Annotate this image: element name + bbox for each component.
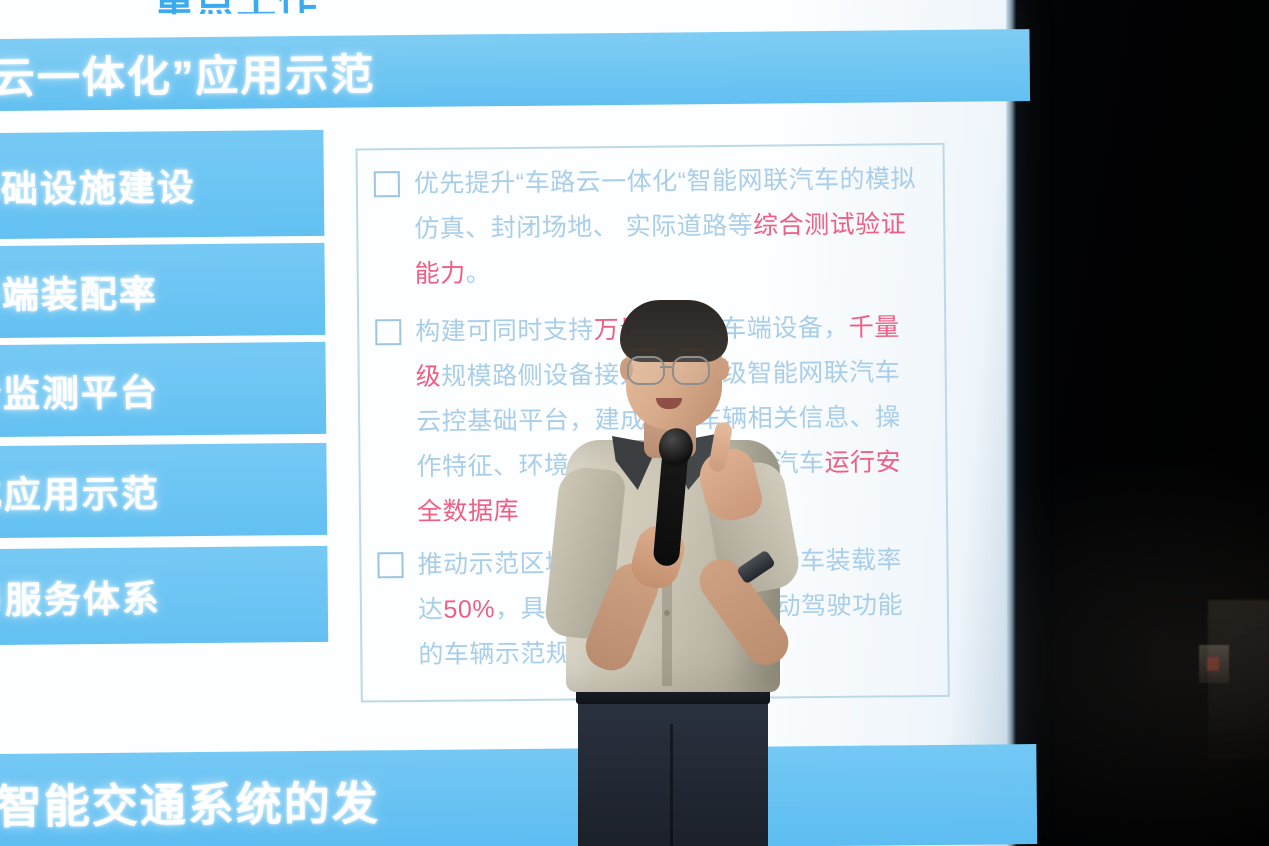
speaker-figure xyxy=(516,300,836,846)
speaker-hair xyxy=(620,300,728,362)
checkbox-empty-icon xyxy=(377,552,403,578)
wall-plate-marking xyxy=(1207,657,1219,671)
bullet-seg-highlight: 50% xyxy=(443,595,495,623)
speaker-glasses-left-lens xyxy=(627,356,665,385)
bullet-item-0: 优先提升“车路云一体化“智能网联汽车的模拟仿真、封闭场地、 实际道路等综合测试验… xyxy=(374,157,923,297)
sidebar-item-1[interactable]: 终端装配率 xyxy=(0,243,325,339)
speaker-trousers xyxy=(578,698,768,846)
sidebar-item-4[interactable]: 与服务体系 xyxy=(0,546,328,646)
wall-plate xyxy=(1199,645,1229,683)
speaker-eyebrow-left xyxy=(632,348,658,352)
speaker-ear-right xyxy=(716,358,729,380)
slide-title: 路云一体化”应用示范 xyxy=(0,40,376,106)
checkbox-empty-icon xyxy=(375,319,401,345)
speaker-shirt-button xyxy=(664,610,670,616)
sidebar-item-2[interactable]: 全监测平台 xyxy=(0,342,326,438)
speaker-glasses-right-lens xyxy=(672,356,710,385)
bullet-seg: 。 xyxy=(466,259,492,287)
slide-bottom-banner-text: 代智能交通系统的发 xyxy=(0,767,380,837)
slide-top-heading: 重点工作 xyxy=(154,0,574,14)
sidebar-item-label: 终端装配率 xyxy=(0,263,158,319)
slide-title-bar: 路云一体化”应用示范 xyxy=(0,29,1030,111)
checkbox-empty-icon xyxy=(374,171,400,197)
presentation-slide: 重点工作 路云一体化”应用示范 基础设施建设 终端装配率 全监测平台 化应用示范… xyxy=(0,0,1022,846)
sidebar-item-label: 化应用示范 xyxy=(0,463,160,519)
sidebar-item-label: 基础设施建设 xyxy=(0,157,196,213)
speaker-glasses-bridge xyxy=(660,366,672,368)
screenshot-stage: 重点工作 路云一体化”应用示范 基础设施建设 终端装配率 全监测平台 化应用示范… xyxy=(0,0,1269,846)
speaker-eyebrow-right xyxy=(678,348,704,352)
sidebar-item-0[interactable]: 基础设施建设 xyxy=(0,130,324,240)
sidebar-item-3[interactable]: 化应用示范 xyxy=(0,443,327,539)
sidebar-item-label: 全监测平台 xyxy=(0,362,159,418)
bullet-text-0: 优先提升“车路云一体化“智能网联汽车的模拟仿真、封闭场地、 实际道路等综合测试验… xyxy=(414,157,923,297)
sidebar-item-label: 与服务体系 xyxy=(0,568,161,624)
